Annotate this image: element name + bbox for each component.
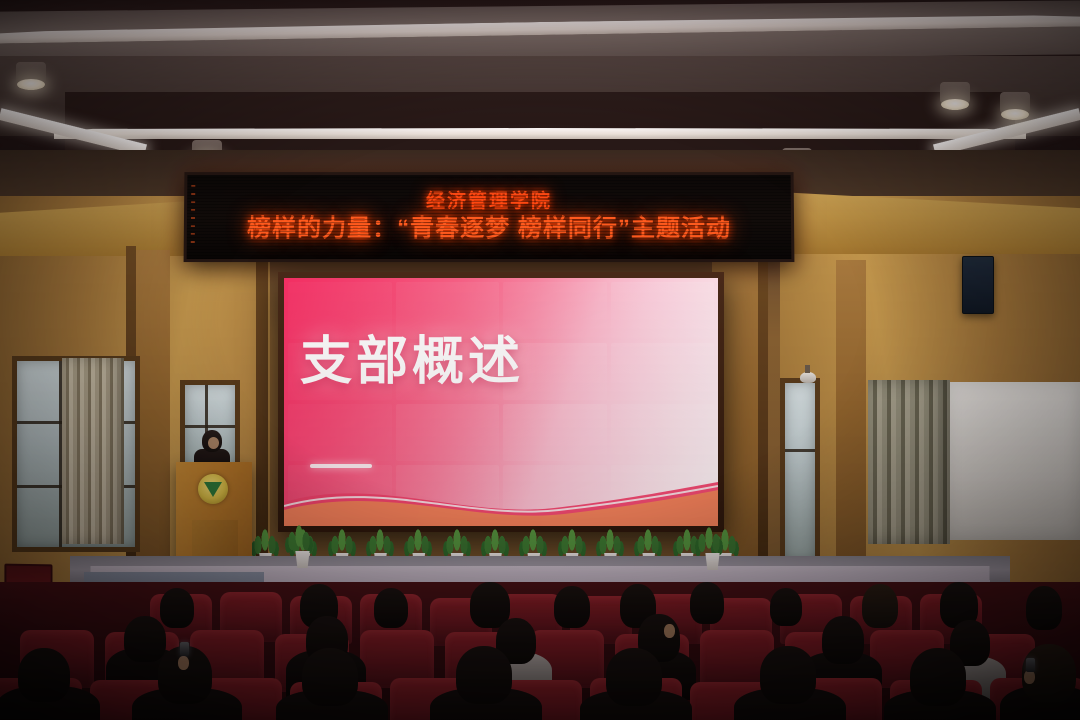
downlight-icon <box>16 62 46 86</box>
led-edge-pixels <box>191 185 196 245</box>
smartphone <box>1026 658 1035 672</box>
audience-area <box>0 582 1080 720</box>
audience-hand <box>1024 670 1035 684</box>
led-banner-line-2: 榜样的力量：“青春逐梦 榜样同行”主题活动 <box>247 213 731 244</box>
audience-head <box>862 584 898 628</box>
ceiling-camera-icon <box>800 372 816 383</box>
white-projection-board <box>946 382 1080 540</box>
plant-pot <box>294 551 311 568</box>
plant-leaves <box>365 527 395 557</box>
audience-head <box>760 646 816 704</box>
plant-leaves <box>595 527 625 557</box>
projection-screen: 支部概述 <box>284 278 718 526</box>
audience-head <box>606 648 662 706</box>
audience-head <box>690 582 724 624</box>
led-banner: 经济管理学院 榜样的力量：“青春逐梦 榜样同行”主题活动 <box>184 172 795 262</box>
projection-screen-frame: 支部概述 <box>278 272 724 532</box>
speaker-face <box>208 437 219 449</box>
plant-leaves <box>518 527 548 557</box>
window-right <box>780 378 820 566</box>
plant-leaves <box>557 527 587 557</box>
wall-pilaster <box>136 250 170 596</box>
wall-pilaster <box>836 260 866 594</box>
slide-wave-decoration <box>284 468 718 526</box>
university-crest-icon <box>198 474 228 504</box>
downlight-icon <box>940 82 970 106</box>
audience-head <box>456 646 512 704</box>
window-blinds-left <box>62 358 124 544</box>
audience-head <box>374 588 408 628</box>
window-transom <box>785 449 815 452</box>
wall-speaker-box <box>962 256 994 314</box>
potted-plant-side <box>284 522 320 568</box>
curtain-right <box>868 380 950 544</box>
led-banner-line-1: 经济管理学院 <box>426 190 552 214</box>
plant-leaves <box>250 527 280 557</box>
auditorium-photo: 经济管理学院 榜样的力量：“青春逐梦 榜样同行”主题活动 支部概述 <box>0 0 1080 720</box>
audience-hand <box>664 624 675 638</box>
plant-leaves <box>480 527 510 557</box>
potted-plant-side <box>694 524 730 570</box>
smartphone <box>180 642 189 656</box>
plant-leaves <box>327 527 357 557</box>
window-transom <box>185 425 235 428</box>
audience-head <box>302 648 358 706</box>
cove-light-strip-inner <box>54 128 1026 139</box>
audience-hand <box>178 656 189 670</box>
plant-leaves <box>633 527 663 557</box>
audience-head <box>124 616 166 662</box>
plant-leaves <box>442 527 472 557</box>
slide-title: 支部概述 <box>300 336 524 388</box>
audience-head <box>554 586 590 628</box>
plant-leaves <box>403 527 433 557</box>
plant-pot <box>704 553 721 570</box>
wave-svg <box>284 468 718 526</box>
audience-head <box>18 648 70 702</box>
downlight-icon <box>1000 92 1030 116</box>
audience-head <box>1026 586 1062 630</box>
audience-head <box>910 648 966 706</box>
audience-head <box>822 616 864 664</box>
audience-head <box>160 588 194 628</box>
audience-head <box>770 588 802 626</box>
wall-pilaster <box>758 258 768 594</box>
